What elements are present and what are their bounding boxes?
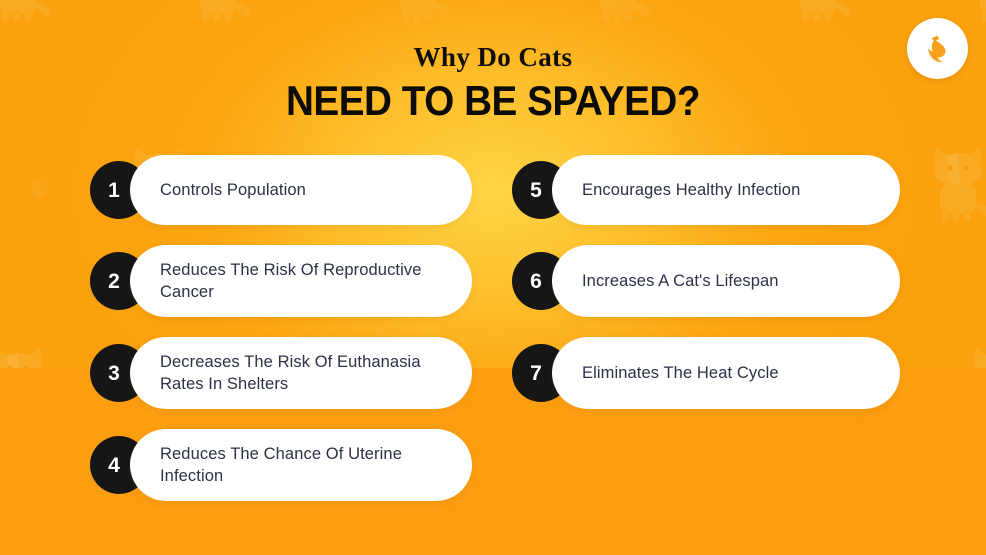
item-number: 5 — [530, 180, 542, 201]
list-item[interactable]: 6 Increases A Cat's Lifespan — [512, 245, 900, 317]
brand-logo[interactable] — [907, 18, 968, 79]
item-label: Reduces The Chance Of Uterine Infection — [160, 443, 446, 488]
item-number: 4 — [108, 455, 120, 476]
benefits-column-left: 1 Controls Population 2 Reduces The Risk… — [90, 155, 472, 521]
list-item[interactable]: 4 Reduces The Chance Of Uterine Infectio… — [90, 429, 472, 501]
item-label: Controls Population — [160, 179, 306, 201]
page-title: NEED TO BE SPAYED? — [39, 80, 946, 122]
item-number: 6 — [530, 271, 542, 292]
item-pill[interactable]: Eliminates The Heat Cycle — [552, 337, 900, 409]
item-pill[interactable]: Controls Population — [130, 155, 472, 225]
item-number: 7 — [530, 363, 542, 384]
poster-header: Why Do Cats NEED TO BE SPAYED? — [0, 44, 986, 122]
item-number: 2 — [108, 271, 120, 292]
cat-silhouette-logo-icon — [920, 31, 956, 67]
item-label: Eliminates The Heat Cycle — [582, 362, 779, 384]
infographic-poster: Why Do Cats NEED TO BE SPAYED? 1 Control… — [0, 0, 986, 555]
item-label: Decreases The Risk Of Euthanasia Rates I… — [160, 351, 446, 396]
list-item[interactable]: 5 Encourages Healthy Infection — [512, 155, 900, 225]
list-item[interactable]: 7 Eliminates The Heat Cycle — [512, 337, 900, 409]
item-number: 1 — [108, 180, 120, 201]
item-label: Reduces The Risk Of Reproductive Cancer — [160, 259, 446, 304]
item-number: 3 — [108, 363, 120, 384]
item-label: Increases A Cat's Lifespan — [582, 270, 779, 292]
list-item[interactable]: 2 Reduces The Risk Of Reproductive Cance… — [90, 245, 472, 317]
item-pill[interactable]: Decreases The Risk Of Euthanasia Rates I… — [130, 337, 472, 409]
item-pill[interactable]: Reduces The Risk Of Reproductive Cancer — [130, 245, 472, 317]
benefits-column-right: 5 Encourages Healthy Infection 6 Increas… — [512, 155, 900, 429]
item-pill[interactable]: Increases A Cat's Lifespan — [552, 245, 900, 317]
item-label: Encourages Healthy Infection — [582, 179, 800, 201]
item-pill[interactable]: Encourages Healthy Infection — [552, 155, 900, 225]
item-pill[interactable]: Reduces The Chance Of Uterine Infection — [130, 429, 472, 501]
list-item[interactable]: 3 Decreases The Risk Of Euthanasia Rates… — [90, 337, 472, 409]
header-kicker: Why Do Cats — [0, 44, 986, 71]
list-item[interactable]: 1 Controls Population — [90, 155, 472, 225]
